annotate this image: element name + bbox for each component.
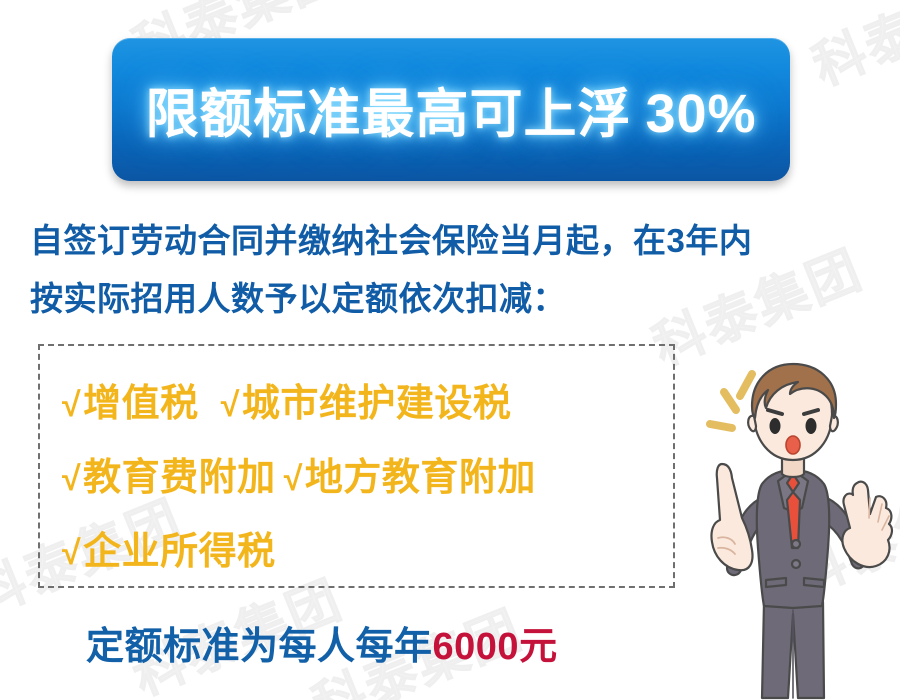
list-item: √企业所得税 — [62, 516, 667, 590]
tax-item-label: 增值税 — [83, 383, 199, 425]
check-icon: √ — [62, 460, 81, 498]
watermark-text: 科泰集团 — [800, 0, 900, 100]
list-item: √增值税√城市维护建设税 — [62, 368, 667, 442]
check-icon: √ — [62, 386, 81, 424]
check-icon: √ — [284, 460, 303, 498]
lead-line-1: 自签订劳动合同并缴纳社会保险当月起，在3年内 — [30, 222, 752, 259]
businessman-illustration — [694, 352, 900, 700]
tax-item-label: 城市维护建设税 — [242, 383, 512, 425]
tax-item-label: 地方教育附加 — [305, 457, 536, 499]
check-icon: √ — [221, 386, 240, 424]
emphasis-spark-icon — [710, 374, 752, 428]
headline-banner-label: 限额标准最高可上浮 — [145, 85, 631, 144]
list-item: √教育费附加√地方教育附加 — [62, 442, 667, 516]
quota-amount: 6000 — [433, 626, 520, 668]
quota-standard-line: 定额标准为每人每年6000元 — [86, 615, 558, 670]
headline-banner-text: 限额标准最高可上浮30% — [145, 72, 756, 148]
tax-list: √增值税√城市维护建设税 √教育费附加√地方教育附加 √企业所得税 — [62, 368, 667, 590]
poster-canvas: 科泰集团 科泰集团 科泰集团 科泰集团 科泰集团 科泰集团 科泰集团 限额标准最… — [0, 0, 900, 700]
lead-line-2: 按实际招用人数予以定额依次扣减： — [30, 270, 886, 328]
quota-unit: 元 — [519, 626, 558, 668]
headline-banner-percent: 30% — [645, 84, 756, 144]
headline-banner-body: 限额标准最高可上浮30% — [112, 38, 790, 181]
tax-list-dashed-box: √增值税√城市维护建设税 √教育费附加√地方教育附加 √企业所得税 — [38, 344, 675, 588]
headline-banner: 限额标准最高可上浮30% — [112, 38, 790, 181]
tax-item-label: 企业所得税 — [83, 531, 276, 573]
quota-prefix: 定额标准为每人每年 — [86, 626, 433, 668]
lead-paragraph: 自签订劳动合同并缴纳社会保险当月起，在3年内 按实际招用人数予以定额依次扣减： — [30, 212, 886, 328]
check-icon: √ — [62, 534, 81, 572]
tax-item-label: 教育费附加 — [83, 457, 276, 499]
